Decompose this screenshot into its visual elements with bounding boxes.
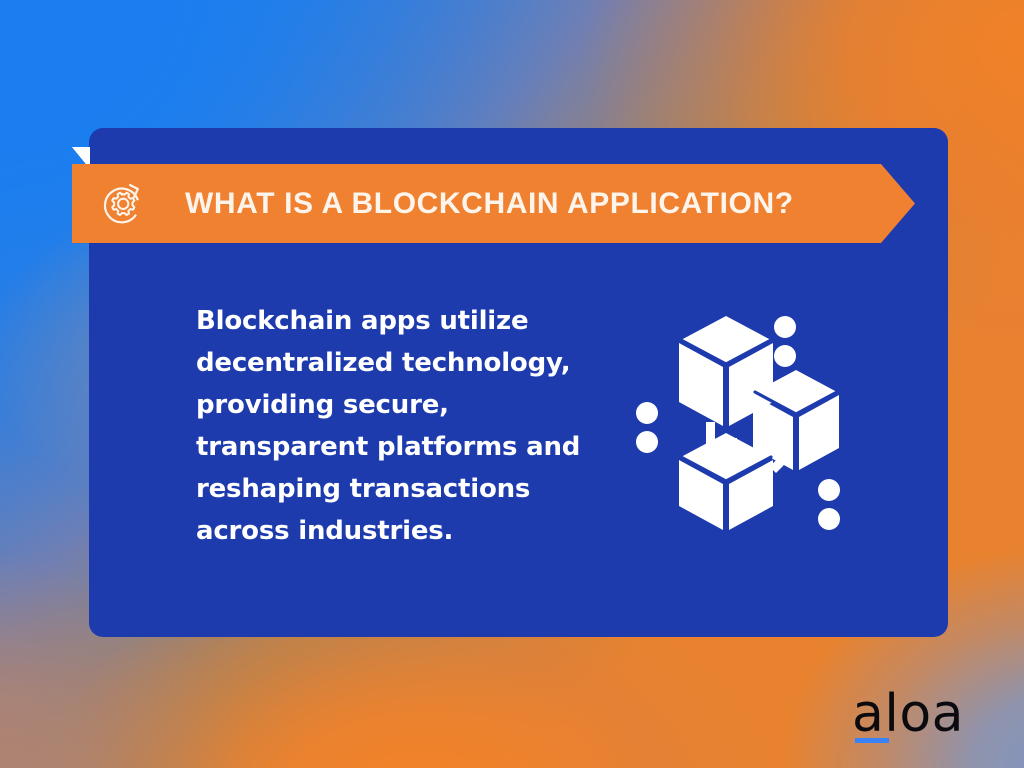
body-paragraph: Blockchain apps utilize decentralized te… (196, 300, 596, 552)
aloa-logo-text: aloa (852, 686, 964, 744)
dot-left-2 (636, 431, 658, 453)
dot-top-right-1 (774, 316, 796, 338)
header-banner: WHAT IS A BLOCKCHAIN APPLICATION? (72, 164, 915, 243)
banner-title: WHAT IS A BLOCKCHAIN APPLICATION? (185, 187, 794, 221)
blockchain-illustration (624, 302, 874, 534)
banner-content: WHAT IS A BLOCKCHAIN APPLICATION? (72, 164, 794, 243)
dot-top-right-2 (774, 345, 796, 367)
blockchain-cubes-icon (624, 302, 874, 534)
aloa-logo-mark: aloa (852, 686, 992, 748)
dot-bottom-right-2 (818, 508, 840, 530)
aloa-logo-underline (855, 738, 889, 743)
dot-left-1 (636, 402, 658, 424)
dot-bottom-right-1 (818, 479, 840, 501)
gear-refresh-icon (95, 177, 149, 231)
aloa-logo: aloa (852, 686, 992, 748)
infographic-canvas: WHAT IS A BLOCKCHAIN APPLICATION? Blockc… (0, 0, 1024, 768)
